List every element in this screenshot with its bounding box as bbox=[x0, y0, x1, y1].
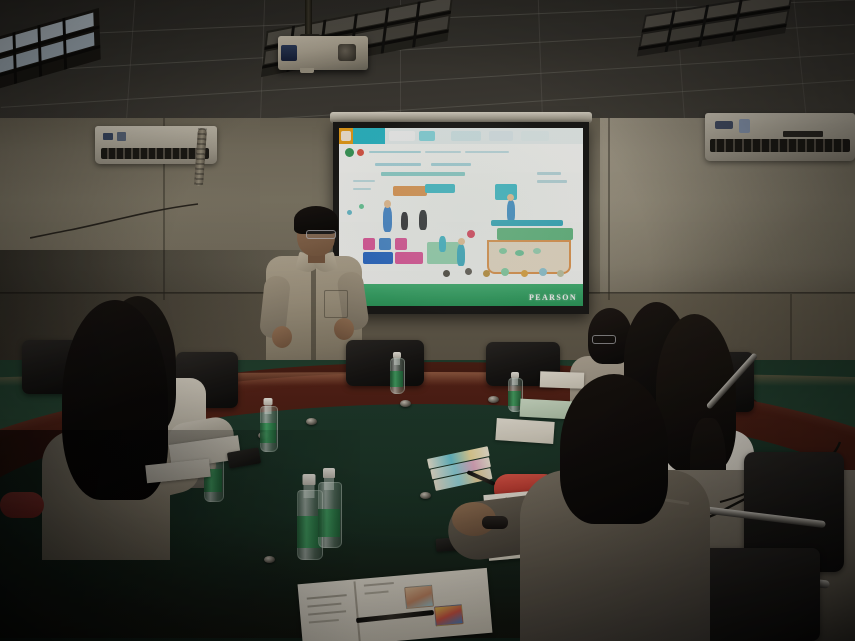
projector-mount-pole bbox=[305, 0, 312, 38]
projector-vent bbox=[281, 45, 297, 61]
air-conditioner-right bbox=[705, 113, 855, 161]
wall-cable bbox=[30, 200, 200, 240]
paper-handout[interactable] bbox=[540, 371, 585, 389]
table-grommet bbox=[306, 418, 317, 425]
glasses-icon bbox=[306, 230, 336, 239]
projector-lens bbox=[338, 44, 356, 61]
slide-content bbox=[339, 144, 583, 284]
slide-header-bar bbox=[339, 128, 583, 144]
water-bottle[interactable] bbox=[390, 352, 403, 394]
projector-foot bbox=[300, 68, 314, 73]
table-shadow-left bbox=[0, 430, 360, 641]
pearson-logo: PEARSON bbox=[529, 293, 577, 302]
table-grommet bbox=[420, 492, 431, 499]
table-grommet bbox=[400, 400, 411, 407]
conference-room-photo: PEARSON bbox=[0, 0, 855, 641]
presenter-hand-right bbox=[334, 318, 354, 340]
projection-screen: PEARSON bbox=[339, 128, 583, 306]
wristwatch bbox=[482, 516, 508, 529]
table-grommet bbox=[488, 396, 499, 403]
presenter-hand-left bbox=[272, 326, 292, 348]
participant-right-front-hair bbox=[560, 374, 668, 524]
presenter-shirt-pocket bbox=[324, 290, 348, 318]
slide-footer-bar: PEARSON bbox=[339, 284, 583, 306]
water-bottle[interactable] bbox=[508, 372, 521, 412]
chair[interactable] bbox=[346, 340, 424, 386]
glasses-icon bbox=[592, 335, 616, 344]
paper-handout[interactable] bbox=[495, 418, 554, 444]
